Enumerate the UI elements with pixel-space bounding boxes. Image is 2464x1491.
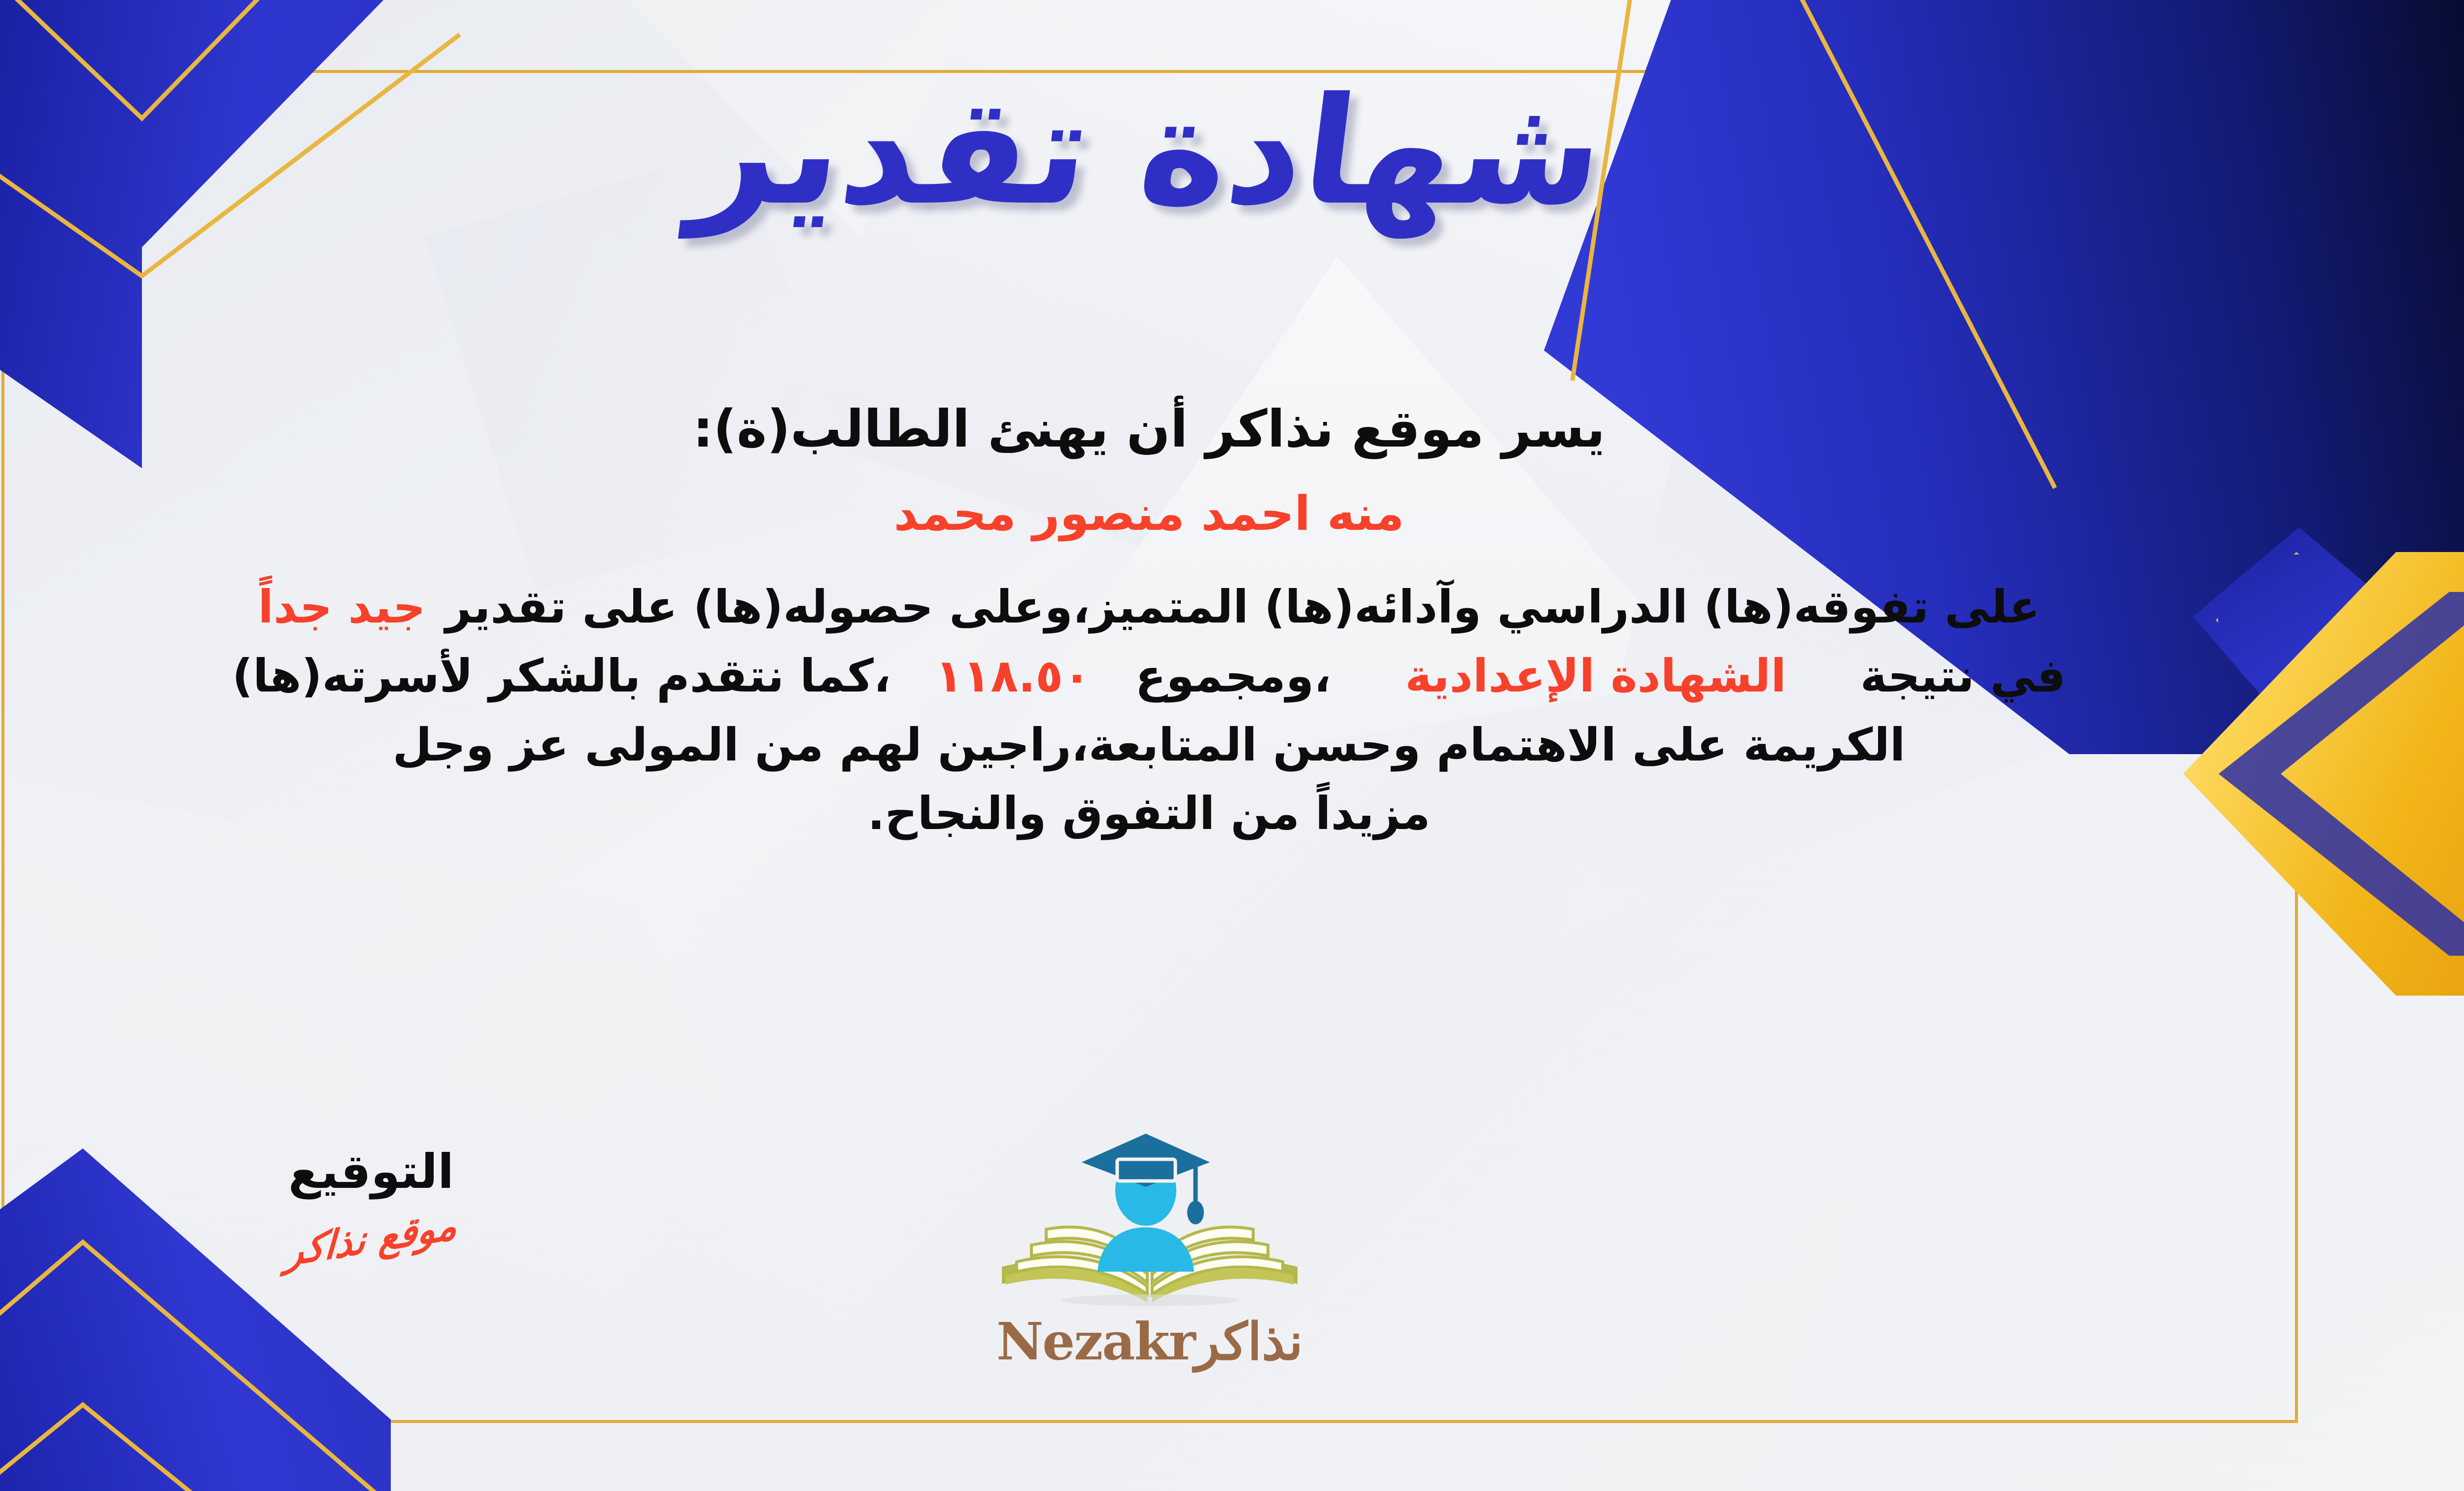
body-line-3: الكريمة على الاهتمام وحسن المتابعة،راجين…: [11, 711, 2287, 780]
signature-label: التوقيع: [213, 1144, 529, 1200]
logo-wordmark: Nezakrنذاكر: [967, 1311, 1332, 1372]
body-line-2-mid: ،ومجموع: [1135, 650, 1331, 702]
certificate-page: شهادة تقدير يسر موقع نذاكر أن يهنئ الطال…: [0, 0, 2464, 1491]
body-line-2-suffix: ،كما نتقدم بالشكر لأسرته(ها): [232, 650, 891, 702]
student-name: منه احمد منصور محمد: [11, 482, 2287, 546]
body-line-4: مزيداً من التفوق والنجاح.: [11, 779, 2287, 848]
body-line-1: على تفوقه(ها) الدراسي وآدائه(ها) المتميز…: [11, 573, 2287, 642]
body-line-2: في نتيجةالشهادة الإعدادية،ومجموع١١٨.٥٠،ك…: [11, 642, 2287, 711]
certificate-body: يسر موقع نذاكر أن يهنئ الطالب(ة): منه اح…: [11, 394, 2287, 848]
total-score: ١١٨.٥٠: [935, 650, 1091, 702]
page-title: شهادة تقدير: [685, 74, 1612, 229]
grade-value: جيد جداً: [258, 581, 425, 633]
signature-block: التوقيع موقع نذاكر: [213, 1144, 529, 1260]
exam-name: الشهادة الإعدادية: [1405, 650, 1786, 702]
graduate-figure-icon: [1081, 1124, 1219, 1272]
body-line-1-text: على تفوقه(ها) الدراسي وآدائه(ها) المتميز…: [445, 581, 2040, 633]
certificate-title-wrap: شهادة تقدير: [0, 74, 2464, 229]
logo-name-arabic: نذاكر: [1195, 1311, 1303, 1372]
logo-artwork: [997, 1124, 1302, 1306]
body-line-2-prefix: في نتيجة: [1860, 650, 2066, 702]
greeting-line: يسر موقع نذاكر أن يهنئ الطالب(ة):: [11, 394, 2287, 463]
logo-name-latin: Nezakr: [996, 1311, 1195, 1372]
site-logo: Nezakrنذاكر: [967, 1124, 1332, 1372]
body-paragraph: على تفوقه(ها) الدراسي وآدائه(ها) المتميز…: [11, 573, 2287, 848]
